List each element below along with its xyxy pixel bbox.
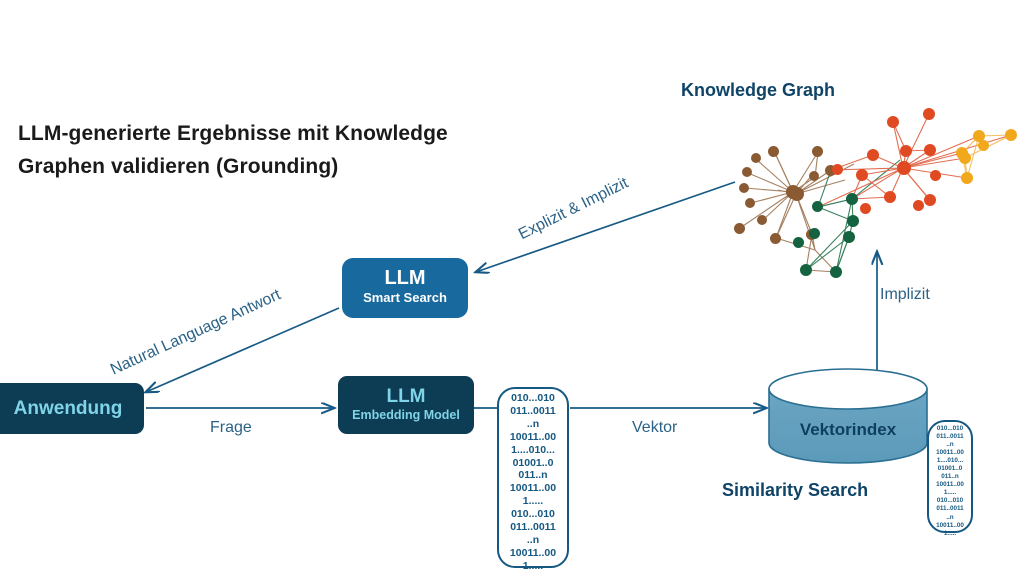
graph-node-green [793,237,804,248]
graph-node-red [924,194,936,206]
graph-node-brown [809,171,819,181]
graph-node-red [930,170,941,181]
graph-node-yellow [1005,129,1017,141]
diagram-canvas: LLM-generierte Ergebnisse mit Knowledge … [0,0,1024,576]
graph-node-brown [751,153,761,163]
vector-matrix-row: 1....010... [499,444,567,457]
vector-matrix-row: 10011..00 [929,481,971,489]
label-similarity-search: Similarity Search [722,480,868,501]
vector-matrix-row: 01001..0 [499,457,567,470]
vector-matrix-row: 1....010... [929,457,971,465]
graph-node-green [830,266,842,278]
graph-node-brown [745,198,755,208]
page-title-line2: Graphen validieren (Grounding) [18,151,538,184]
graph-node-yellow [978,140,989,151]
graph-node-green [843,231,855,243]
vector-matrix-row: 010...010 [929,497,971,505]
node-smart-search-title: LLM [384,268,425,289]
graph-node-green [847,215,859,227]
graph-node-green [800,264,812,276]
vector-matrix-row: 010...010 [499,392,567,405]
graph-node-brown [812,146,823,157]
vector-matrix-row: 1..... [499,560,567,573]
graph-node-brown [742,167,752,177]
label-implizit: Implizit [880,286,930,304]
vector-matrix-row: 10011..00 [499,482,567,495]
vector-matrix-row: 011..0011 [929,505,971,513]
page-title-line1: LLM-generierte Ergebnisse mit Knowledge [18,118,538,151]
graph-node-brown [790,187,804,201]
graph-node-red [884,191,896,203]
page-title: LLM-generierte Ergebnisse mit Knowledge … [18,118,538,183]
graph-node-red [897,161,911,175]
graph-node-red [923,108,935,120]
vector-matrix-row: 1..... [929,530,971,538]
vector-matrix-row: 010...010 [499,508,567,521]
vector-matrix-main: 010...010011..0011..n10011..001....010..… [497,387,569,568]
graph-node-red [856,169,868,181]
graph-node-red [832,164,843,175]
vektorindex-label: Vektorindex [769,420,927,440]
vector-matrix-row: 10011..00 [929,449,971,457]
graph-node-green [809,228,820,239]
graph-node-brown [768,146,779,157]
graph-node-brown [770,233,781,244]
vector-matrix-row: 1..... [499,495,567,508]
vector-matrix-row: 10011..00 [499,547,567,560]
vector-matrix-row: ..n [499,418,567,431]
graph-node-brown [734,223,745,234]
vector-matrix-row: 01001..0 [929,465,971,473]
graph-node-green [812,201,823,212]
vector-matrix-row: 011..0011 [929,433,971,441]
graph-node-yellow [959,152,971,164]
vector-matrix-row: 011..n [499,469,567,482]
graph-node-brown [739,183,749,193]
graph-node-red [913,200,924,211]
node-smart-search[interactable]: LLM Smart Search [342,258,468,318]
node-embedding-model-subtitle: Embedding Model [352,407,460,424]
vector-matrix-row: 011..0011 [499,521,567,534]
label-frage: Frage [210,419,252,437]
vector-matrix-row: 10011..00 [929,522,971,530]
node-anwendung-label: Anwendung [14,398,123,420]
node-smart-search-subtitle: Smart Search [363,289,447,307]
vector-matrix-row: 010...010 [929,425,971,433]
vector-matrix-row: ..n [929,441,971,449]
vector-matrix-row: ..n [499,534,567,547]
graph-node-red [867,149,879,161]
graph-node-red [900,145,912,157]
label-knowledge-graph: Knowledge Graph [681,80,835,101]
label-vektor: Vektor [632,419,677,437]
vector-matrix-row: 1..... [929,489,971,497]
node-anwendung[interactable]: Anwendung [0,383,144,434]
vector-matrix-row: 011..0011 [499,405,567,418]
node-embedding-model-title: LLM [386,387,425,407]
vector-matrix-row: 10011..00 [499,431,567,444]
graph-node-red [887,116,899,128]
graph-node-red [924,144,936,156]
vector-matrix-row: 011..n [929,473,971,481]
graph-node-green [846,193,858,205]
vector-matrix-row: ..n [929,514,971,522]
graph-node-red [860,203,871,214]
graph-node-yellow [961,172,973,184]
node-embedding-model[interactable]: LLM Embedding Model [338,376,474,434]
vector-matrix-small: 010...010011..0011..n10011..001....010..… [927,420,973,533]
graph-node-brown [757,215,767,225]
